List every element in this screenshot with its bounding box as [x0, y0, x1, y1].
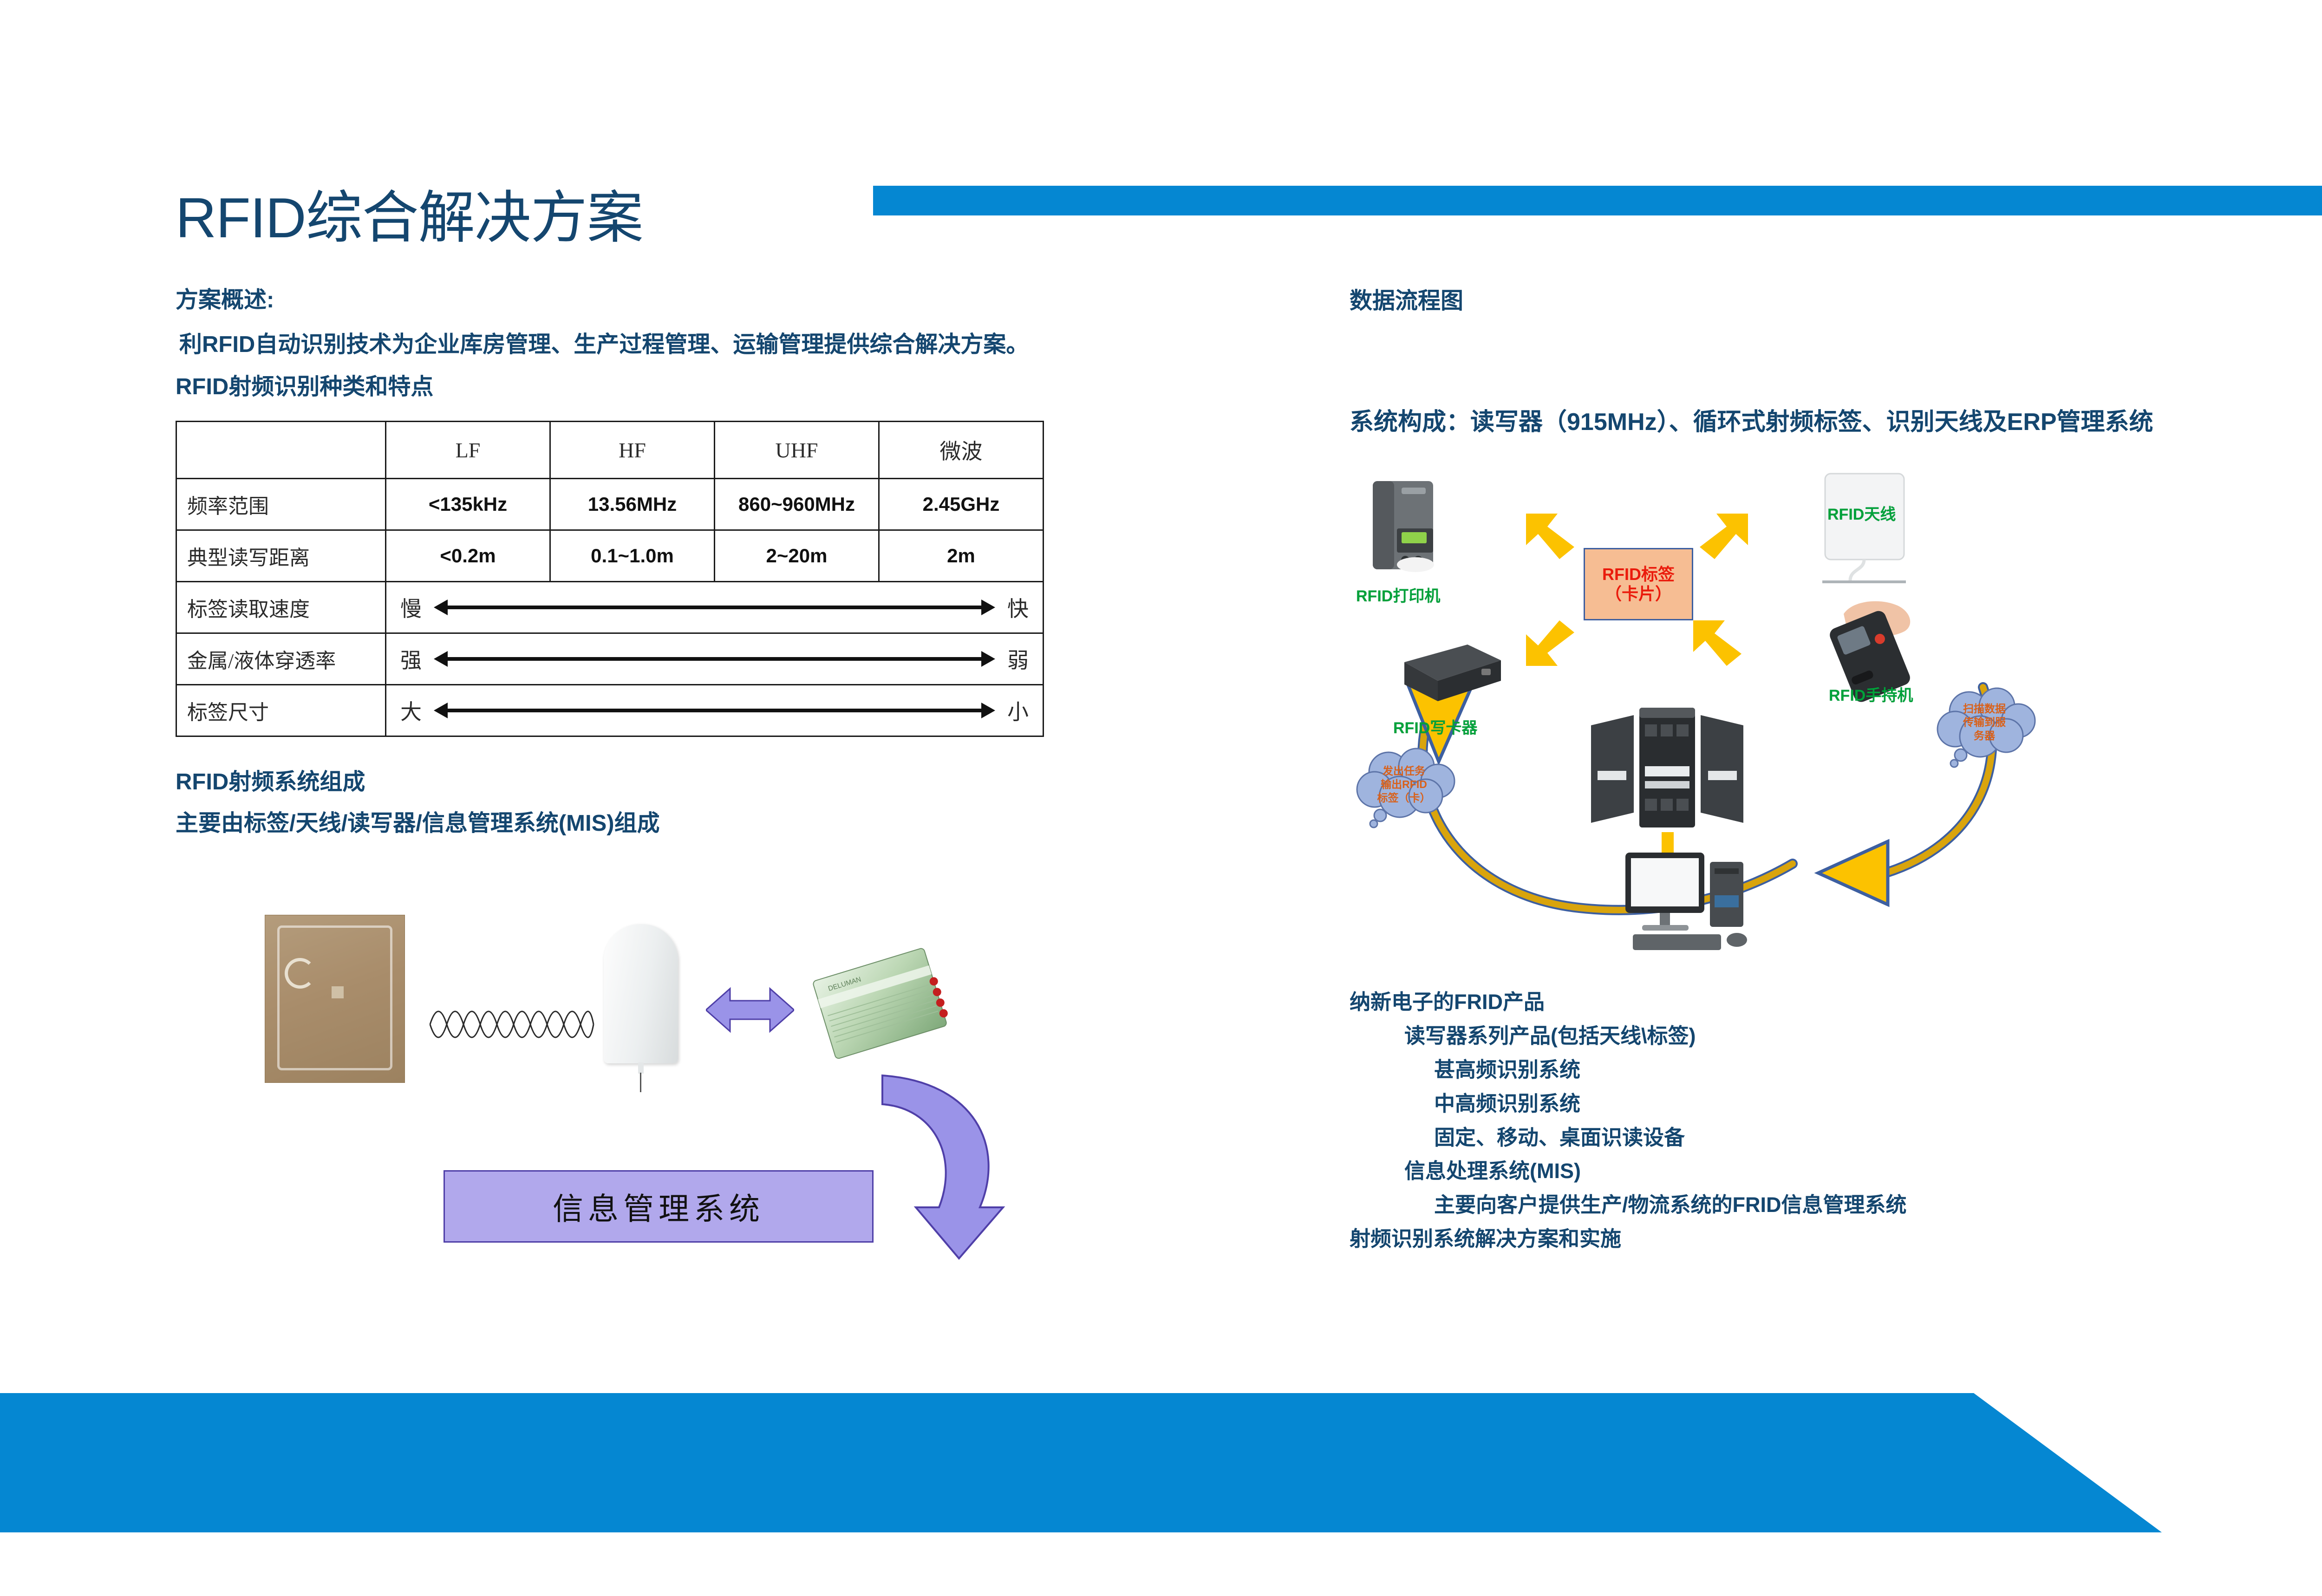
arrow-printer-to-tag-icon [1523, 511, 1584, 562]
rfid-antenna-photo [604, 924, 678, 1087]
rfid-antenna-icon [1816, 469, 1918, 585]
col-header-uhf: UHF [715, 422, 879, 479]
col-header-lf: LF [386, 422, 550, 479]
overview-text: 利RFID自动识别技术为企业库房管理、生产过程管理、运输管理提供综合解决方案。 [179, 326, 1029, 359]
system-make-label: 系统构成：读写器（915MHz）、循环式射频标签、识别天线及ERP管理系统 [1350, 402, 2153, 437]
arrow-right-label-speed: 快 [1007, 592, 1029, 623]
cell-distance-micro: 2m [879, 530, 1044, 582]
table-row: 金属/液体穿透率 强 弱 [176, 633, 1044, 685]
cell-frequency-hf: 13.56MHz [550, 479, 715, 530]
arrow-left-label-penetration: 强 [400, 644, 422, 674]
kinds-label: RFID射频识别种类和特点 [176, 368, 433, 401]
bullet-item: 射频识别系统解决方案和实施 [1350, 1222, 2093, 1256]
bidirectional-arrow-icon [706, 982, 794, 1038]
rfid-card-writer-icon [1398, 636, 1505, 710]
row-label-frequency: 频率范围 [176, 479, 386, 530]
rfid-tag-line2: （卡片） [1605, 584, 1672, 604]
gradient-arrow-penetration: 强 弱 [386, 633, 1044, 685]
top-blue-banner [873, 186, 2322, 215]
table-row: 频率范围 <135kHz 13.56MHz 860~960MHz 2.45GHz [176, 479, 1044, 530]
bullet-item: 读写器系列产品(包括天线\标签) [1404, 1019, 2093, 1053]
cloud-left-text: 发出任务 输出RFID 标签（卡） [1360, 764, 1448, 804]
server-cluster-icon [1579, 697, 1755, 836]
gradient-arrow-read-speed: 慢 快 [386, 582, 1044, 633]
arrow-tag-to-handheld-icon [1690, 618, 1751, 669]
rfid-data-flow-diagram: RFID打印机 RFID写卡器 RFID天线 RFID手持机 [1337, 464, 2090, 957]
compose-label: RFID射频系统组成 [176, 763, 365, 796]
double-arrow-icon [434, 703, 995, 718]
mis-box-label: 信息管理系统 [553, 1184, 764, 1229]
cell-frequency-lf: <135kHz [386, 479, 550, 530]
row-label-read-speed: 标签读取速度 [176, 582, 386, 633]
arrow-right-label-penetration: 弱 [1007, 644, 1029, 674]
feedback-curved-arrow-icon [864, 1068, 1017, 1263]
cell-distance-uhf: 2~20m [715, 530, 879, 582]
radio-wave-icon [428, 997, 595, 1052]
rfid-comparison-table: LF HF UHF 微波 频率范围 <135kHz 13.56MHz 860~9… [176, 421, 1044, 737]
bullet-item: 信息处理系统(MIS) [1404, 1154, 2093, 1188]
arrow-left-label-speed: 慢 [400, 592, 422, 623]
bottom-blue-banner [0, 1393, 2322, 1532]
col-header-hf: HF [550, 422, 715, 479]
product-bullet-list: 纳新电子的FRID产品 读写器系列产品(包括天线\标签) 甚高频识别系统 中高频… [1350, 985, 2093, 1256]
rfid-tag-line1: RFID标签 [1602, 565, 1675, 584]
arrow-writer-to-tag-icon [1523, 618, 1584, 669]
table-header-row: LF HF UHF 微波 [176, 422, 1044, 479]
rfid-reader-photo: DELUMAN [806, 938, 959, 1073]
table-corner-cell [176, 422, 386, 479]
overview-label: 方案概述: [176, 281, 274, 314]
label-rfid-printer: RFID打印机 [1356, 583, 1440, 606]
gradient-arrow-tag-size: 大 小 [386, 685, 1044, 736]
double-arrow-icon [434, 651, 995, 667]
cloud-right-text: 扫描数据 传输到服 务器 [1940, 702, 2028, 742]
information-management-system-box: 信息管理系统 [444, 1170, 874, 1243]
page-title: RFID综合解决方案 [176, 188, 643, 248]
row-label-penetration: 金属/液体穿透率 [176, 633, 386, 685]
desktop-computer-icon [1611, 848, 1765, 955]
cell-distance-hf: 0.1~1.0m [550, 530, 715, 582]
label-rfid-handheld: RFID手持机 [1829, 683, 1913, 705]
rfid-tag-photo [265, 915, 405, 1083]
bullet-item: 纳新电子的FRID产品 [1350, 985, 2093, 1019]
cell-distance-lf: <0.2m [386, 530, 550, 582]
bullet-item: 主要向客户提供生产/物流系统的FRID信息管理系统 [1434, 1188, 2093, 1222]
arrow-left-label-size: 大 [400, 695, 422, 726]
arrow-right-label-size: 小 [1007, 695, 1029, 726]
label-rfid-antenna: RFID天线 [1827, 502, 1896, 524]
table-row: 标签尺寸 大 小 [176, 685, 1044, 736]
slide-canvas: RFID综合解决方案 方案概述: 利RFID自动识别技术为企业库房管理、生产过程… [0, 0, 2322, 1596]
row-label-tag-size: 标签尺寸 [176, 685, 386, 736]
bullet-item: 甚高频识别系统 [1434, 1053, 2093, 1087]
table-row: 典型读写距离 <0.2m 0.1~1.0m 2~20m 2m [176, 530, 1044, 582]
rfid-printer-icon [1357, 474, 1464, 580]
bullet-item: 中高频识别系统 [1434, 1087, 2093, 1121]
double-arrow-icon [434, 599, 995, 615]
rfid-tag-center-box: RFID标签 （卡片） [1584, 548, 1693, 620]
label-rfid-card-writer: RFID写卡器 [1393, 715, 1477, 738]
dataflow-label: 数据流程图 [1350, 282, 1463, 315]
arrow-tag-to-antenna-icon [1690, 511, 1751, 562]
col-header-micro: 微波 [879, 422, 1044, 479]
compose-text: 主要由标签/天线/读写器/信息管理系统(MIS)组成 [176, 805, 660, 838]
bullet-item: 固定、移动、桌面识读设备 [1434, 1121, 2093, 1155]
table-row: 标签读取速度 慢 快 [176, 582, 1044, 633]
row-label-distance: 典型读写距离 [176, 530, 386, 582]
cell-frequency-micro: 2.45GHz [879, 479, 1044, 530]
cell-frequency-uhf: 860~960MHz [715, 479, 879, 530]
